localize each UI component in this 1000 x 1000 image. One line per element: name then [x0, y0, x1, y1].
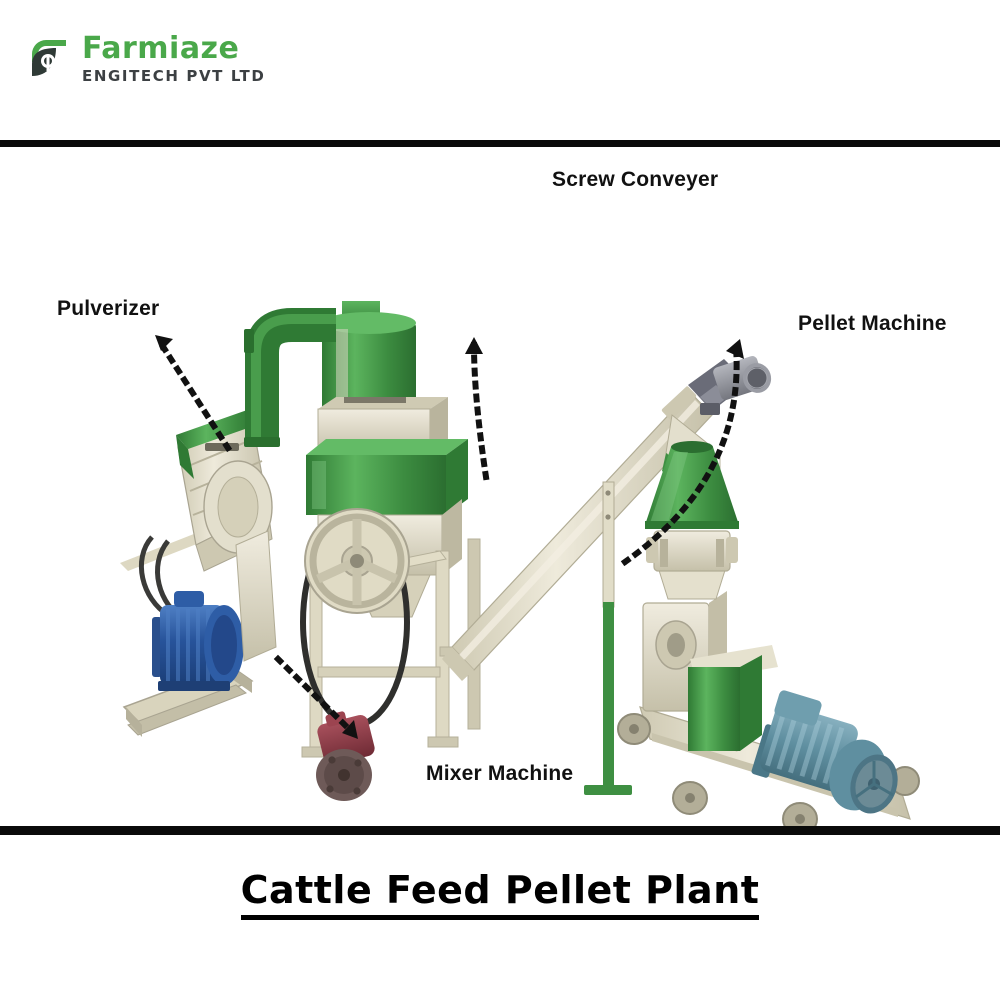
arrow-line-screw-conveyer — [474, 345, 486, 477]
plant-diagram — [0, 147, 1000, 826]
callout-label-pellet-machine: Pellet Machine — [798, 312, 947, 336]
mixer-body — [306, 439, 468, 515]
callout-label-screw-conveyer: Screw Conveyer — [552, 168, 718, 192]
pellet-teal-motor — [751, 689, 905, 819]
pulverizer-drive — [141, 537, 244, 691]
callout-label-mixer-machine: Mixer Machine — [426, 762, 573, 786]
figure-caption: Cattle Feed Pellet Plant — [241, 868, 760, 920]
poster-page: Farmiaze ENGITECH PVT LTD — [0, 0, 1000, 1000]
machine-pellet — [618, 441, 919, 826]
callout-label-pulverizer: Pulverizer — [57, 297, 159, 321]
brand-text: Farmiaze ENGITECH PVT LTD — [82, 34, 265, 84]
pellet-press-neck — [646, 531, 738, 599]
figure-caption-wrap: Cattle Feed Pellet Plant — [0, 868, 1000, 920]
brand-logo: Farmiaze ENGITECH PVT LTD — [22, 34, 265, 84]
leaf-f-monogram-icon — [22, 34, 72, 84]
arrowhead-screw-conveyer — [465, 337, 483, 354]
divider-bottom — [0, 826, 1000, 835]
brand-name: Farmiaze — [82, 34, 265, 64]
divider-top — [0, 140, 1000, 147]
machine-pulverizer — [120, 409, 276, 737]
brand-subtitle: ENGITECH PVT LTD — [82, 69, 265, 84]
